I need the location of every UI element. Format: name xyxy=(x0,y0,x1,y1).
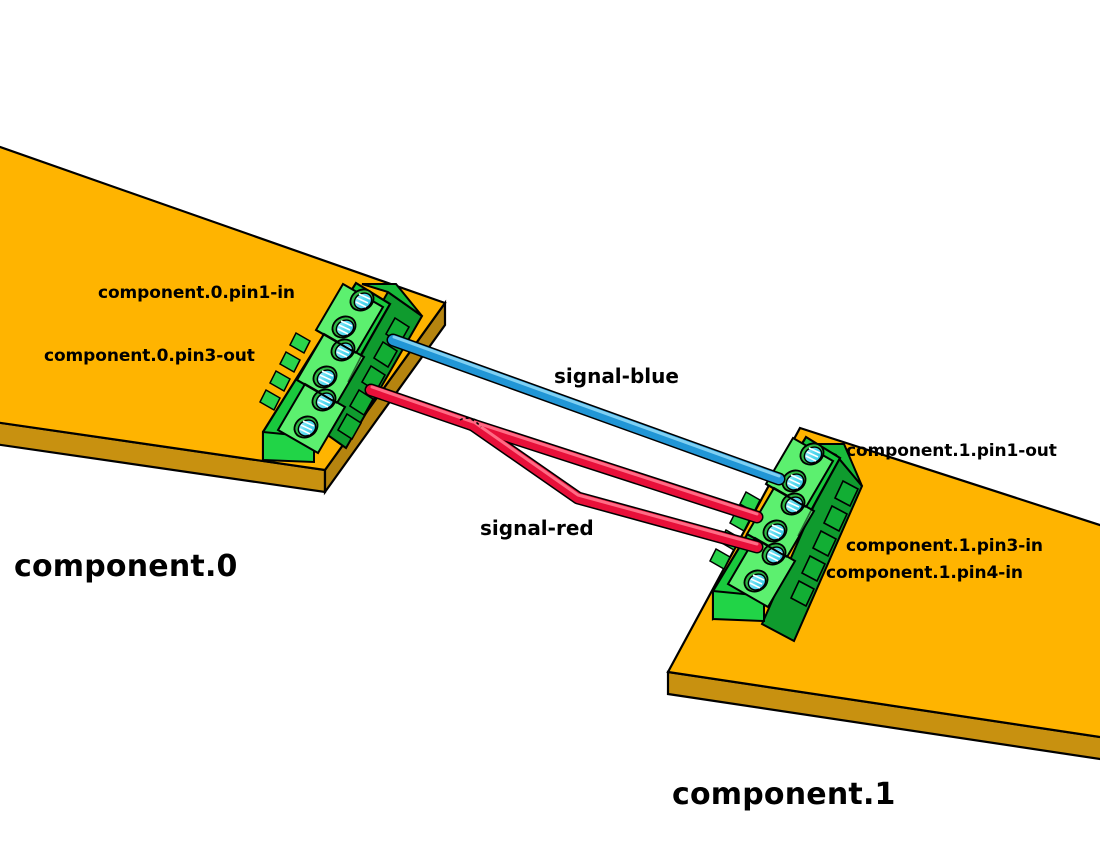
label-board-component-1: component.1 xyxy=(672,780,896,810)
diagram-canvas: component.0.pin1-in component.0.pin3-out… xyxy=(0,0,1100,850)
label-signal-blue: signal-blue xyxy=(554,366,679,386)
wire-signal-red-branch1-highlight xyxy=(474,422,757,514)
label-component-1-pin4-in: component.1.pin4-in xyxy=(826,565,1023,582)
label-board-component-0: component.0 xyxy=(14,552,238,582)
label-component-1-pin1-out: component.1.pin1-out xyxy=(846,443,1057,460)
label-component-1-pin3-in: component.1.pin3-in xyxy=(846,538,1043,555)
label-component-0-pin3-out: component.0.pin3-out xyxy=(44,348,255,365)
label-signal-red: signal-red xyxy=(480,518,594,538)
wiring-diagram-svg xyxy=(0,0,1100,850)
label-component-0-pin1-in: component.0.pin1-in xyxy=(98,285,295,302)
